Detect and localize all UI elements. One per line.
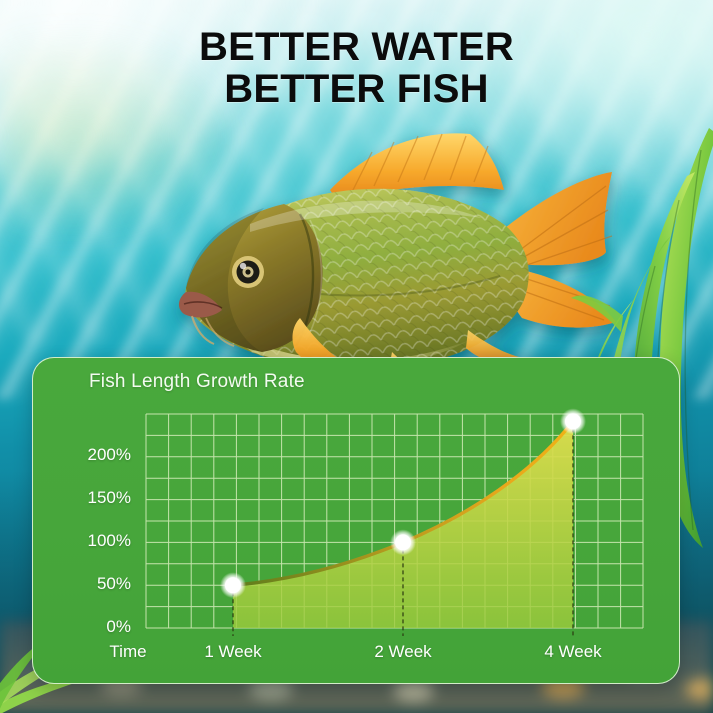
growth-rate-card: Fish Length Growth Rate <box>32 357 680 684</box>
x-tick-4-week: 4 Week <box>528 642 618 662</box>
y-tick-200: 200% <box>41 445 131 465</box>
headline-line-2: BETTER FISH <box>0 68 713 110</box>
poster: BETTER WATER BETTER FISH Fish Length Gro… <box>0 0 713 713</box>
headline-line-1: BETTER WATER <box>199 25 514 69</box>
y-tick-100: 100% <box>41 531 131 551</box>
x-tick-2-week: 2 Week <box>358 642 448 662</box>
x-tick-1-week: 1 Week <box>188 642 278 662</box>
y-tick-0: 0% <box>41 617 131 637</box>
y-tick-150: 150% <box>41 488 131 508</box>
headline: BETTER WATER BETTER FISH <box>0 26 713 111</box>
y-tick-50: 50% <box>41 574 131 594</box>
chart-series <box>233 421 573 628</box>
x-axis-caption: Time <box>83 642 173 662</box>
